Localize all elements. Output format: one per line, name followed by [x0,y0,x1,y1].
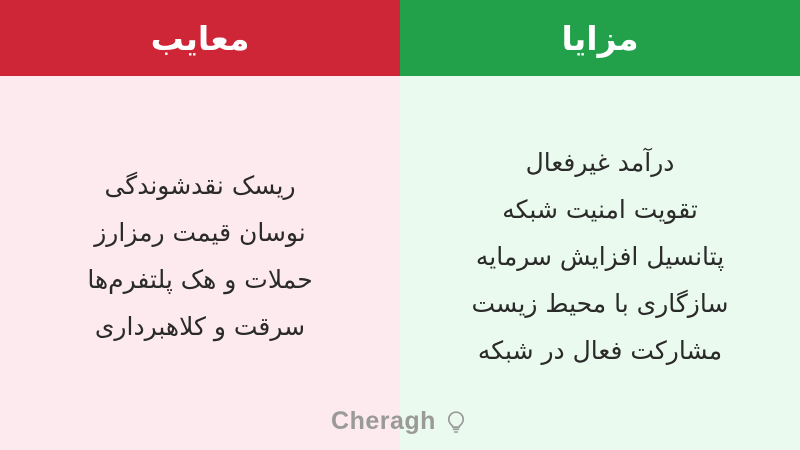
pros-header-title: مزایا [561,22,638,55]
list-item: مشارکت فعال در شبکه [478,327,722,374]
list-item: حملات و هک پلتفرم‌ها [87,256,312,303]
pros-list: درآمد غیرفعال تقویت امنیت شبکه پتانسیل ا… [400,76,800,450]
pros-cons-comparison: مزایا درآمد غیرفعال تقویت امنیت شبکه پتا… [0,0,800,450]
list-item: تقویت امنیت شبکه [502,186,698,233]
list-item: ریسک نقدشوندگی [104,162,295,209]
pros-header: مزایا [400,0,800,76]
list-item: پتانسیل افزایش سرمایه [476,233,724,280]
list-item: سازگاری با محیط زیست [472,280,729,327]
list-item: نوسان قیمت رمزارز [94,209,306,256]
list-item: درآمد غیرفعال [526,139,675,186]
list-item: سرقت و کلاهبرداری [95,303,305,350]
pros-column: مزایا درآمد غیرفعال تقویت امنیت شبکه پتا… [400,0,800,450]
cons-header-title: معایب [151,22,250,55]
cons-column: معایب ریسک نقدشوندگی نوسان قیمت رمزارز ح… [0,0,400,450]
cons-header: معایب [0,0,400,76]
cons-list: ریسک نقدشوندگی نوسان قیمت رمزارز حملات و… [0,76,400,450]
